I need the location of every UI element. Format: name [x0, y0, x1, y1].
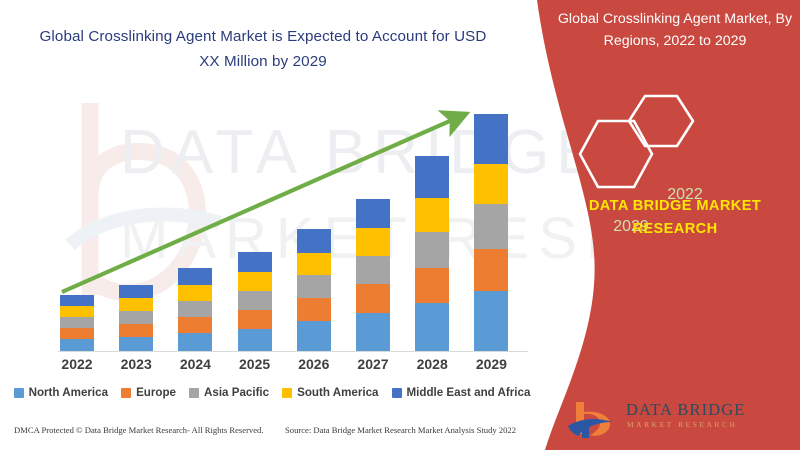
bar-segment[interactable]	[119, 298, 153, 311]
bar-segment[interactable]	[474, 164, 508, 204]
x-axis-label: 2023	[106, 356, 166, 372]
chart-legend: North AmericaEuropeAsia PacificSouth Ame…	[22, 386, 522, 399]
bar-segment[interactable]	[119, 285, 153, 298]
bar-segment[interactable]	[178, 268, 212, 285]
bar-group[interactable]	[178, 268, 212, 351]
bar-segment[interactable]	[238, 291, 272, 310]
bar-segment[interactable]	[60, 339, 94, 351]
bar-segment[interactable]	[415, 268, 449, 303]
legend-swatch	[282, 388, 292, 398]
bar-segment[interactable]	[356, 284, 390, 313]
panel-title: Global Crosslinking Agent Market, By Reg…	[550, 8, 800, 52]
company-logo: DATA BRIDGE MARKET RESEARCH	[562, 398, 782, 442]
bar-segment[interactable]	[238, 252, 272, 272]
bar-segment[interactable]	[415, 232, 449, 268]
bar-segment[interactable]	[297, 275, 331, 298]
bar-segment[interactable]	[297, 298, 331, 321]
x-axis-label: 2024	[165, 356, 225, 372]
bar-group[interactable]	[415, 156, 449, 351]
legend-item[interactable]: North America	[14, 386, 108, 399]
bar-segment[interactable]	[178, 317, 212, 333]
bar-segment[interactable]	[356, 313, 390, 351]
legend-swatch	[189, 388, 199, 398]
bar-group[interactable]	[474, 114, 508, 351]
legend-item[interactable]: Europe	[121, 386, 176, 399]
x-axis-label: 2025	[225, 356, 285, 372]
bar-segment[interactable]	[119, 324, 153, 337]
source-note: Source: Data Bridge Market Research Mark…	[285, 425, 516, 435]
bar-segment[interactable]	[238, 310, 272, 329]
bar-group[interactable]	[356, 199, 390, 351]
x-axis-label: 2029	[461, 356, 521, 372]
bar-segment[interactable]	[356, 228, 390, 256]
legend-label: Europe	[136, 386, 176, 399]
x-axis-label: 2028	[402, 356, 462, 372]
bar-group[interactable]	[297, 229, 331, 351]
bar-segment[interactable]	[297, 229, 331, 253]
bar-segment[interactable]	[178, 333, 212, 351]
x-axis-labels: 20222023202420252026202720282029	[30, 356, 530, 376]
logo-subtitle: MARKET RESEARCH	[627, 420, 738, 429]
bar-segment[interactable]	[178, 285, 212, 301]
bar-segment[interactable]	[415, 156, 449, 198]
legend-label: Asia Pacific	[204, 386, 269, 399]
bar-segment[interactable]	[474, 114, 508, 164]
bar-segment[interactable]	[60, 306, 94, 317]
legend-item[interactable]: Asia Pacific	[189, 386, 269, 399]
legend-swatch	[14, 388, 24, 398]
legend-label: North America	[29, 386, 108, 399]
footer: DMCA Protected © Data Bridge Market Rese…	[0, 425, 560, 450]
brand-name: DATA BRIDGE MARKET RESEARCH	[555, 195, 795, 241]
bar-segment[interactable]	[60, 328, 94, 339]
legend-label: Middle East and Africa	[407, 386, 531, 399]
hexagon-2022-shape	[629, 96, 693, 146]
legend-item[interactable]: Middle East and Africa	[392, 386, 531, 399]
x-axis-label: 2022	[47, 356, 107, 372]
hexagon-2029-shape	[580, 121, 652, 187]
bar-group[interactable]	[60, 295, 94, 351]
page-title: Global Crosslinking Agent Market is Expe…	[28, 24, 498, 74]
logo-title: DATA BRIDGE	[626, 400, 745, 420]
x-axis-label: 2026	[284, 356, 344, 372]
bar-segment[interactable]	[297, 253, 331, 275]
bar-segment[interactable]	[119, 311, 153, 324]
legend-item[interactable]: South America	[282, 386, 378, 399]
bar-group[interactable]	[238, 252, 272, 351]
legend-swatch	[121, 388, 131, 398]
bar-segment[interactable]	[238, 329, 272, 351]
bar-segment[interactable]	[356, 256, 390, 284]
legend-swatch	[392, 388, 402, 398]
bar-segment[interactable]	[415, 303, 449, 351]
brand-panel: Global Crosslinking Agent Market, By Reg…	[540, 0, 800, 450]
bar-chart-plot	[30, 100, 500, 352]
legend-label: South America	[297, 386, 378, 399]
hexagon-outline-icon	[550, 88, 800, 198]
dmca-notice: DMCA Protected © Data Bridge Market Rese…	[14, 425, 264, 435]
bar-segment[interactable]	[119, 337, 153, 351]
bar-segment[interactable]	[60, 317, 94, 328]
bar-segment[interactable]	[297, 321, 331, 351]
bar-group[interactable]	[119, 285, 153, 351]
hexagon-badges: 2022 2029	[550, 88, 800, 198]
bar-segment[interactable]	[178, 301, 212, 317]
bar-segment[interactable]	[415, 198, 449, 232]
bar-segment[interactable]	[474, 291, 508, 351]
bar-segment[interactable]	[60, 295, 94, 306]
bar-segment[interactable]	[238, 272, 272, 291]
x-axis-line	[58, 351, 528, 352]
x-axis-label: 2027	[343, 356, 403, 372]
bar-segment[interactable]	[474, 204, 508, 249]
bar-segment[interactable]	[356, 199, 390, 228]
infographic-canvas: DATA BRIDGE MARKET RESEARCH Global Cross…	[0, 0, 800, 450]
bridge-mark-icon	[562, 398, 622, 442]
bar-segment[interactable]	[474, 249, 508, 291]
chart-pane: DATA BRIDGE MARKET RESEARCH Global Cross…	[0, 0, 560, 450]
